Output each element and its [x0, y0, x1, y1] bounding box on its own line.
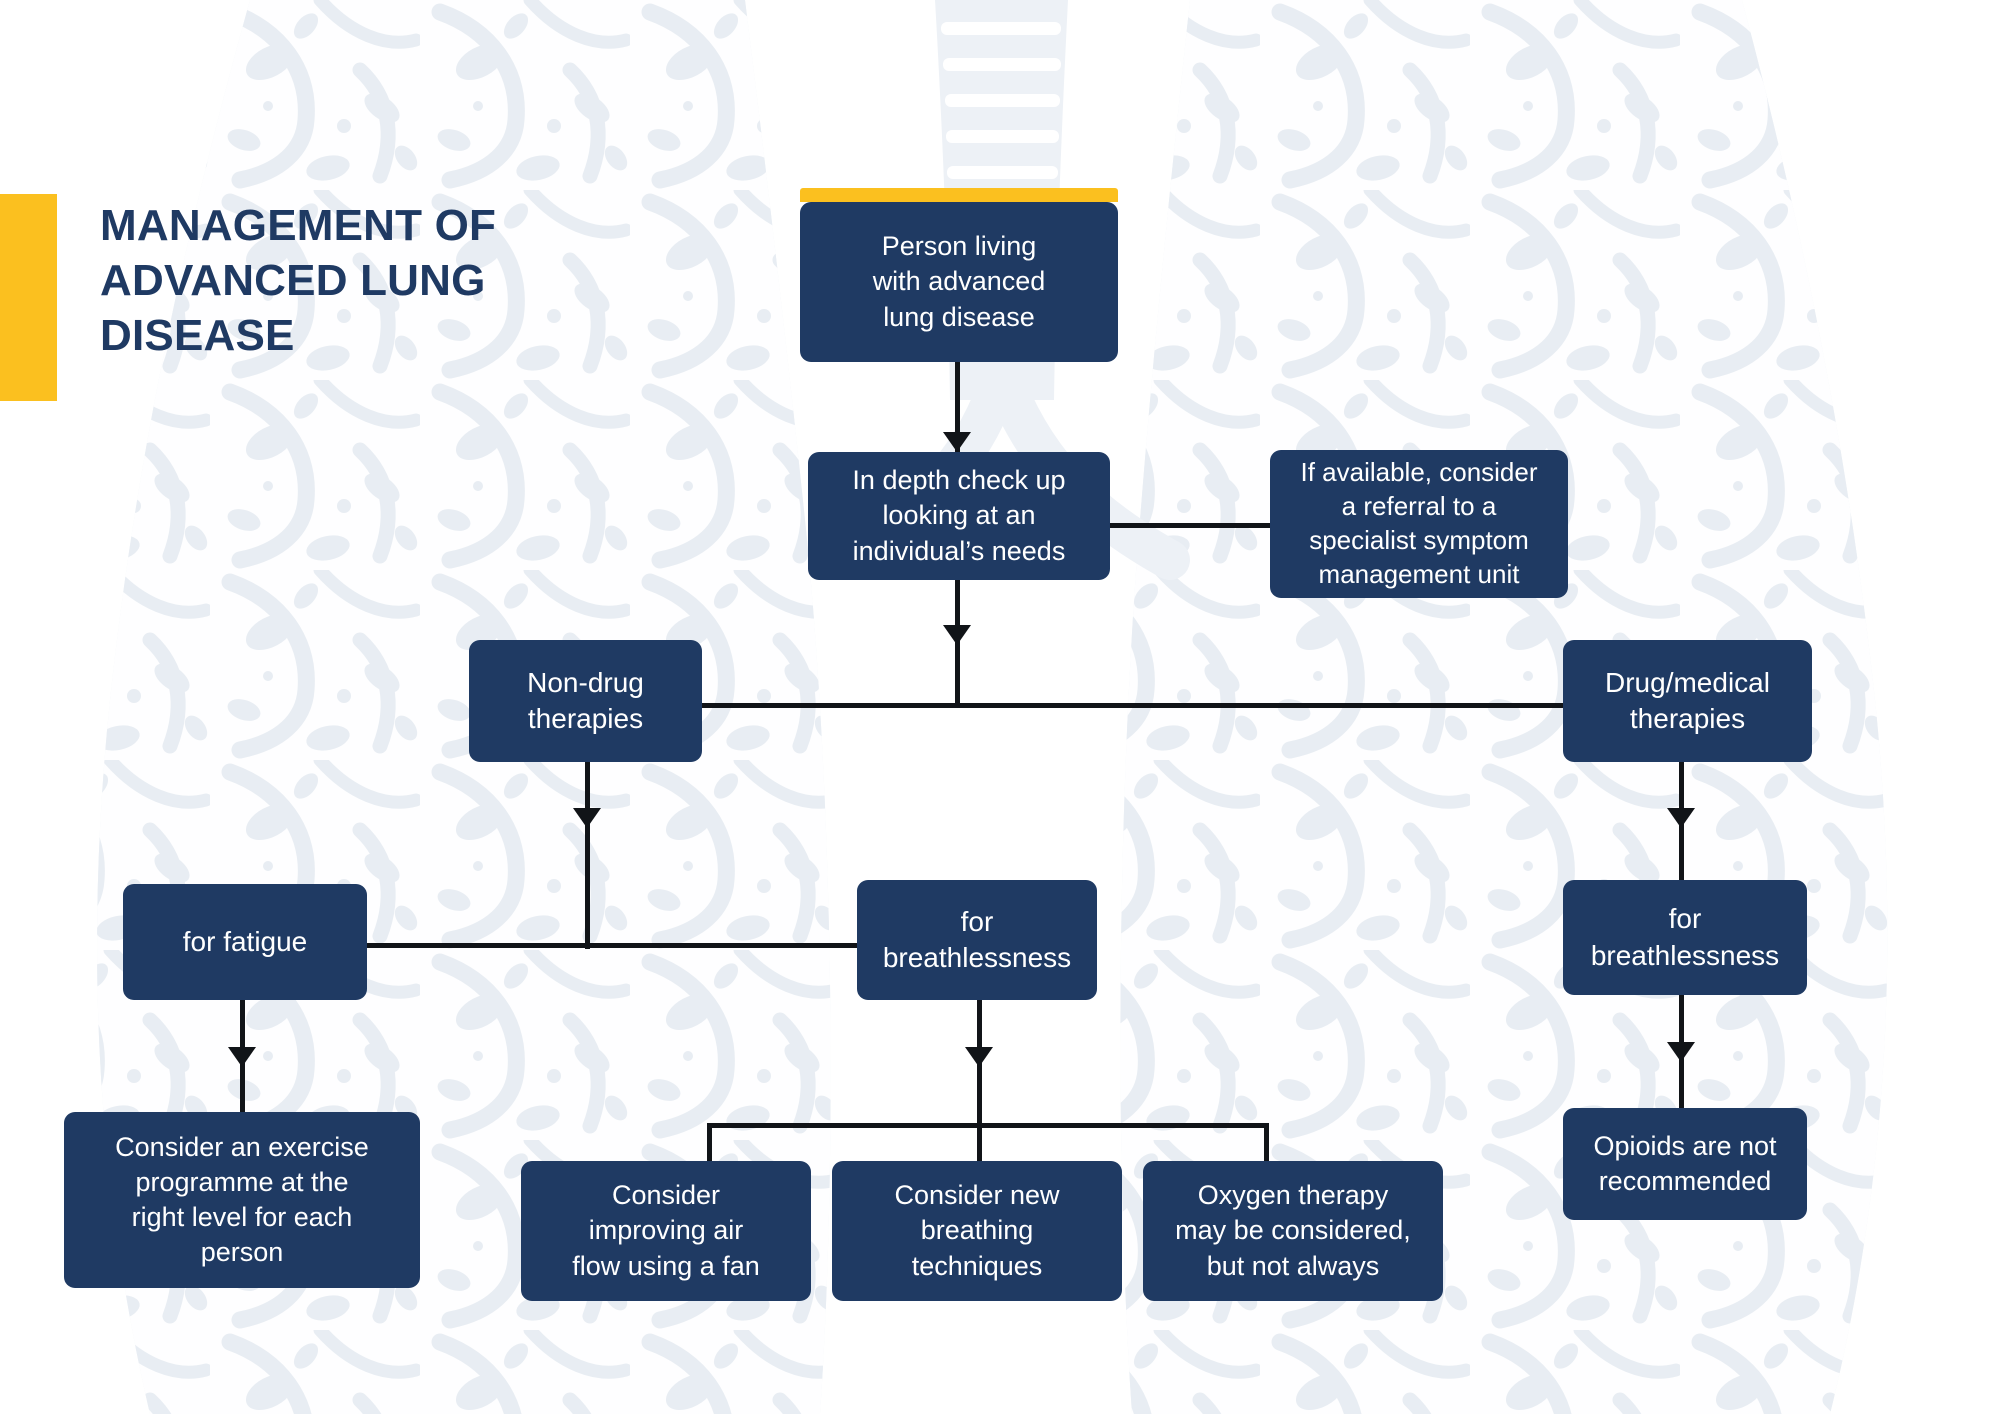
arrowhead-checkup-down	[943, 625, 971, 645]
connector-breathless1-down	[977, 1000, 982, 1135]
node-consider-improving-air-flow[interactable]: Consider improving air flow using a fan	[521, 1161, 811, 1301]
arrowhead-nondrug-down	[573, 808, 601, 828]
arrowhead-fatigue-to-exercise	[228, 1047, 256, 1067]
title-accent-bar	[0, 194, 57, 401]
node-label: Consider an exercise programme at the ri…	[115, 1130, 369, 1270]
connector-bus-to-fan	[707, 1123, 712, 1161]
connector-bus-to-oxygen	[1264, 1123, 1269, 1161]
node-label: Oxygen therapy may be considered, but no…	[1175, 1178, 1411, 1283]
connector-breathless1-bus	[707, 1123, 1269, 1128]
node-oxygen-therapy[interactable]: Oxygen therapy may be considered, but no…	[1143, 1161, 1443, 1301]
connector-checkup-to-referral	[1098, 523, 1270, 528]
connector-bus-to-breathtech	[977, 1123, 982, 1161]
node-opioids-not-recommended[interactable]: Opioids are not recommended	[1563, 1108, 1807, 1220]
node-consider-exercise-programme[interactable]: Consider an exercise programme at the ri…	[64, 1112, 420, 1288]
node-label: Consider improving air flow using a fan	[572, 1178, 760, 1283]
connector-therapies-bus	[700, 703, 1700, 708]
page-title: Management of advanced lung disease	[100, 198, 620, 363]
person-node-accent	[800, 188, 1118, 202]
node-label: for breathlessness	[1591, 901, 1779, 974]
node-label: for breathlessness	[883, 904, 1071, 977]
node-label: Drug/medical therapies	[1605, 665, 1770, 738]
node-in-depth-check-up[interactable]: In depth check up looking at an individu…	[808, 452, 1110, 580]
arrowhead-breathless1-down	[965, 1047, 993, 1067]
node-label: In depth check up looking at an individu…	[852, 463, 1065, 568]
arrowhead-breathless2-to-opioids	[1667, 1042, 1695, 1062]
node-for-fatigue[interactable]: for fatigue	[123, 884, 367, 1000]
node-label: for fatigue	[183, 924, 308, 960]
node-specialist-symptom-referral[interactable]: If available, consider a referral to a s…	[1270, 450, 1568, 598]
node-for-breathlessness-non-drug[interactable]: for breathlessness	[857, 880, 1097, 1000]
arrowhead-drug-to-breathless2	[1667, 808, 1695, 828]
arrowhead-person-to-checkup	[943, 432, 971, 452]
node-label: Opioids are not recommended	[1593, 1129, 1776, 1199]
node-for-breathlessness-drug[interactable]: for breathlessness	[1563, 880, 1807, 995]
node-consider-new-breathing-techniques[interactable]: Consider new breathing techniques	[832, 1161, 1122, 1301]
node-label: Person living with advanced lung disease	[873, 229, 1046, 334]
connector-symptom-bus-left	[367, 943, 857, 948]
node-label: Consider new breathing techniques	[894, 1178, 1059, 1283]
infographic-canvas: Management of advanced lung disease Pers…	[0, 0, 2000, 1414]
connector-nondrug-down	[585, 762, 590, 949]
node-person-living-with-advanced-lung-disease[interactable]: Person living with advanced lung disease	[800, 202, 1118, 362]
node-label: If available, consider a referral to a s…	[1300, 456, 1537, 591]
node-non-drug-therapies[interactable]: Non-drug therapies	[469, 640, 702, 762]
node-label: Non-drug therapies	[527, 665, 644, 738]
node-drug-medical-therapies[interactable]: Drug/medical therapies	[1563, 640, 1812, 762]
